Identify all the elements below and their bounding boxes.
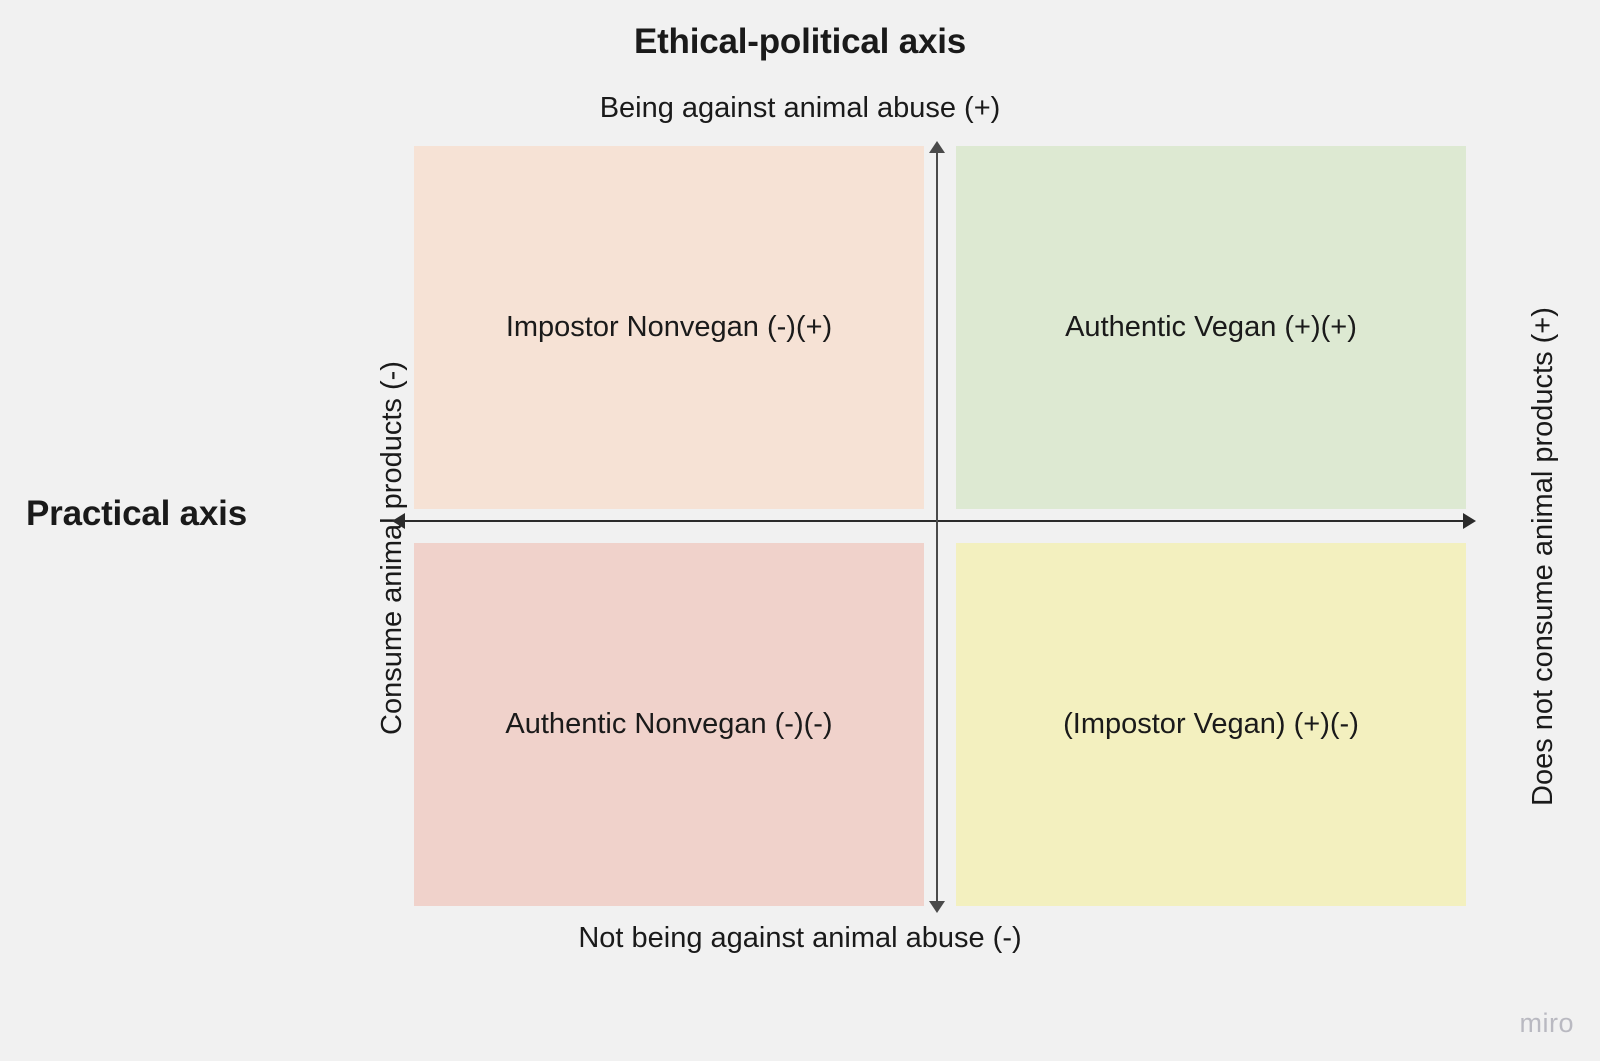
quadrant-impostor-nonvegan[interactable]: Impostor Nonvegan (-)(+): [414, 146, 924, 509]
arrow-right-icon: [1463, 513, 1476, 529]
arrow-left-icon: [392, 513, 405, 529]
quadrant-authentic-vegan[interactable]: Authentic Vegan (+)(+): [956, 146, 1466, 509]
practical-axis-title: Practical axis: [26, 494, 247, 534]
quadrant-authentic-nonvegan[interactable]: Authentic Nonvegan (-)(-): [414, 543, 924, 906]
quadrant-label: (Impostor Vegan) (+)(-): [1047, 706, 1375, 742]
practical-axis-positive-label: Does not consume animal products (+): [1527, 307, 1560, 806]
miro-watermark: miro: [1520, 1008, 1575, 1039]
ethical-political-axis-title: Ethical-political axis: [0, 22, 1600, 62]
practical-axis-negative-label: Consume animal products (-): [376, 361, 409, 735]
quadrant-impostor-vegan[interactable]: (Impostor Vegan) (+)(-): [956, 543, 1466, 906]
quadrant-label: Impostor Nonvegan (-)(+): [490, 309, 848, 345]
arrow-up-icon: [929, 141, 945, 153]
horizontal-axis-line: [398, 520, 1468, 522]
quadrant-label: Authentic Nonvegan (-)(-): [489, 706, 848, 742]
quadrant-matrix: Impostor Nonvegan (-)(+) Authentic Vegan…: [414, 146, 1466, 906]
vertical-axis-line: [936, 148, 938, 905]
quadrant-label: Authentic Vegan (+)(+): [1049, 309, 1373, 345]
ethical-axis-negative-label: Not being against animal abuse (-): [0, 922, 1600, 955]
arrow-down-icon: [929, 901, 945, 913]
diagram-canvas: Ethical-political axis Being against ani…: [0, 0, 1600, 1061]
ethical-axis-positive-label: Being against animal abuse (+): [0, 92, 1600, 125]
